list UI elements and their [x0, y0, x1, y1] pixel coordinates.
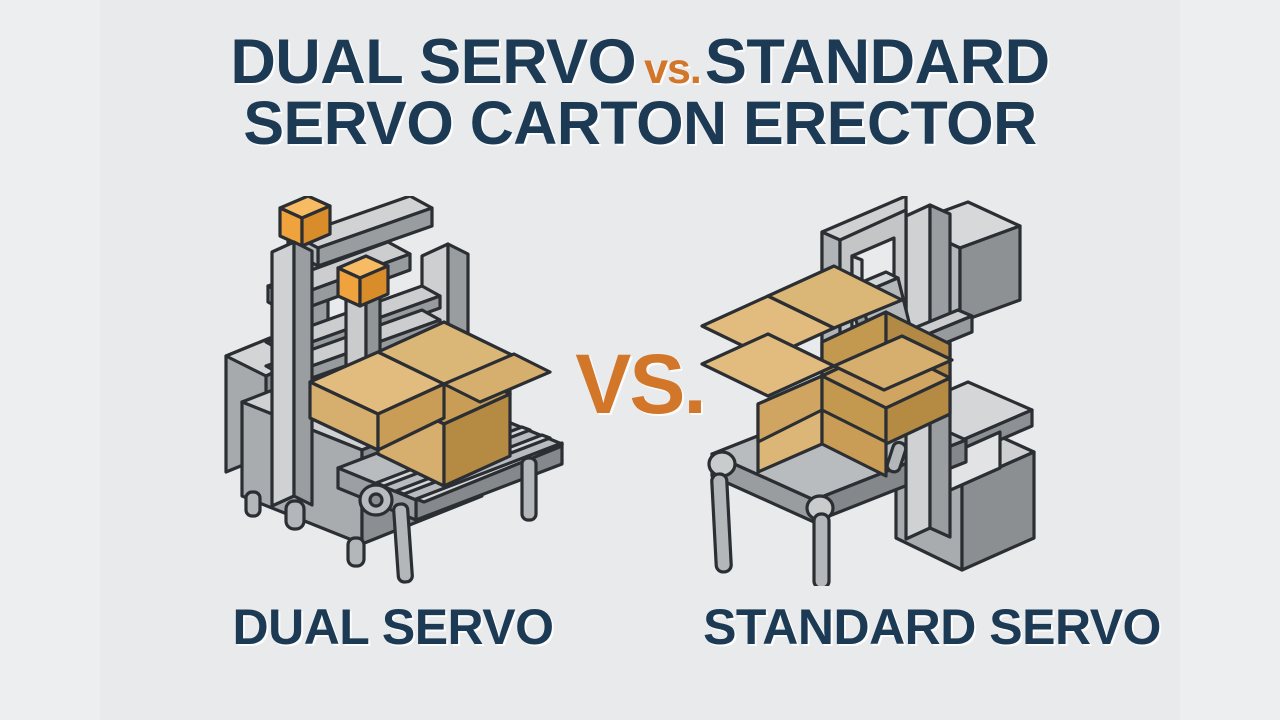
- caption-standard-servo: STANDARD SERVO: [672, 598, 1192, 656]
- poster-canvas: DUAL SERVOvs.STANDARD SERVO CARTON ERECT…: [0, 0, 1280, 720]
- dual-servo-svg: [210, 196, 610, 586]
- title-line-1: DUAL SERVOvs.STANDARD: [0, 32, 1280, 94]
- title-vs-word: vs.: [636, 45, 705, 93]
- standard-servo-svg: [700, 196, 1080, 586]
- illustration-standard-servo-machine: [700, 196, 1080, 586]
- page-title: DUAL SERVOvs.STANDARD SERVO CARTON ERECT…: [0, 32, 1280, 154]
- servo-motor-cap-right: [338, 256, 388, 306]
- versus-badge: VS.: [556, 336, 724, 433]
- title-part-standard: STANDARD: [705, 27, 1050, 97]
- front-left-column: [272, 242, 312, 529]
- title-line-2: SERVO CARTON ERECTOR: [0, 94, 1280, 154]
- illustration-dual-servo-machine: [210, 196, 610, 586]
- title-part-dual-servo: DUAL SERVO: [230, 27, 636, 97]
- servo-motor-cap-left: [280, 196, 330, 246]
- caption-dual-servo: DUAL SERVO: [183, 598, 603, 656]
